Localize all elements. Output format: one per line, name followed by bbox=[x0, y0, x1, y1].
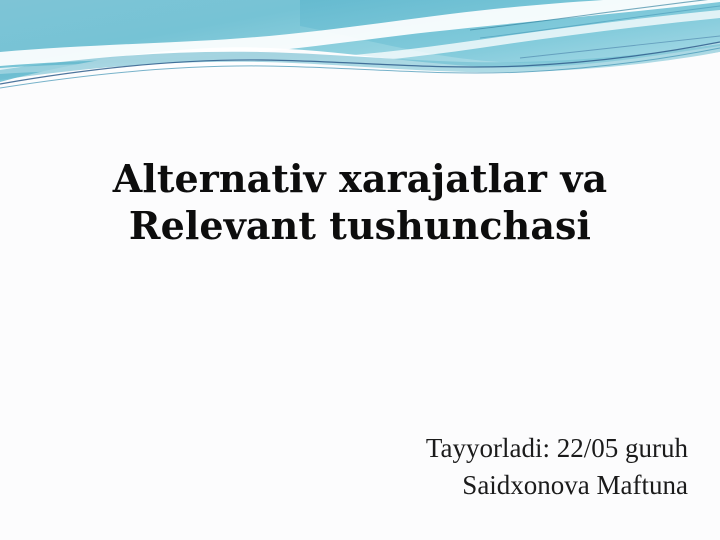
wave-accent-stroke-1 bbox=[470, 0, 720, 30]
wave-lower-crescent bbox=[0, 44, 720, 80]
title-slide: Alternativ xarajatlar va Relevant tushun… bbox=[0, 0, 720, 540]
wave-white-base bbox=[0, 52, 720, 96]
wave-accent-stroke-3 bbox=[520, 36, 720, 58]
slide-title: Alternativ xarajatlar va Relevant tushun… bbox=[60, 155, 660, 249]
title-line-2: Relevant tushunchasi bbox=[60, 202, 660, 249]
wave-right-band bbox=[300, 0, 720, 63]
wave-banner-decoration bbox=[0, 0, 720, 96]
subtitle-line-author-name: Saidxonova Maftuna bbox=[168, 467, 688, 504]
wave-stroke-navy bbox=[0, 42, 720, 84]
subtitle-line-prepared-by: Tayyorladi: 22/05 guruh bbox=[168, 430, 688, 467]
wave-accent-stroke-2 bbox=[480, 6, 720, 38]
wave-stroke-teal bbox=[0, 48, 720, 88]
wave-white-sliver bbox=[0, 10, 720, 74]
wave-base-shape bbox=[0, 0, 720, 82]
wave-white-swoosh-upper bbox=[0, 0, 720, 66]
title-line-1: Alternativ xarajatlar va bbox=[60, 155, 660, 202]
slide-subtitle: Tayyorladi: 22/05 guruh Saidxonova Maftu… bbox=[168, 430, 688, 504]
